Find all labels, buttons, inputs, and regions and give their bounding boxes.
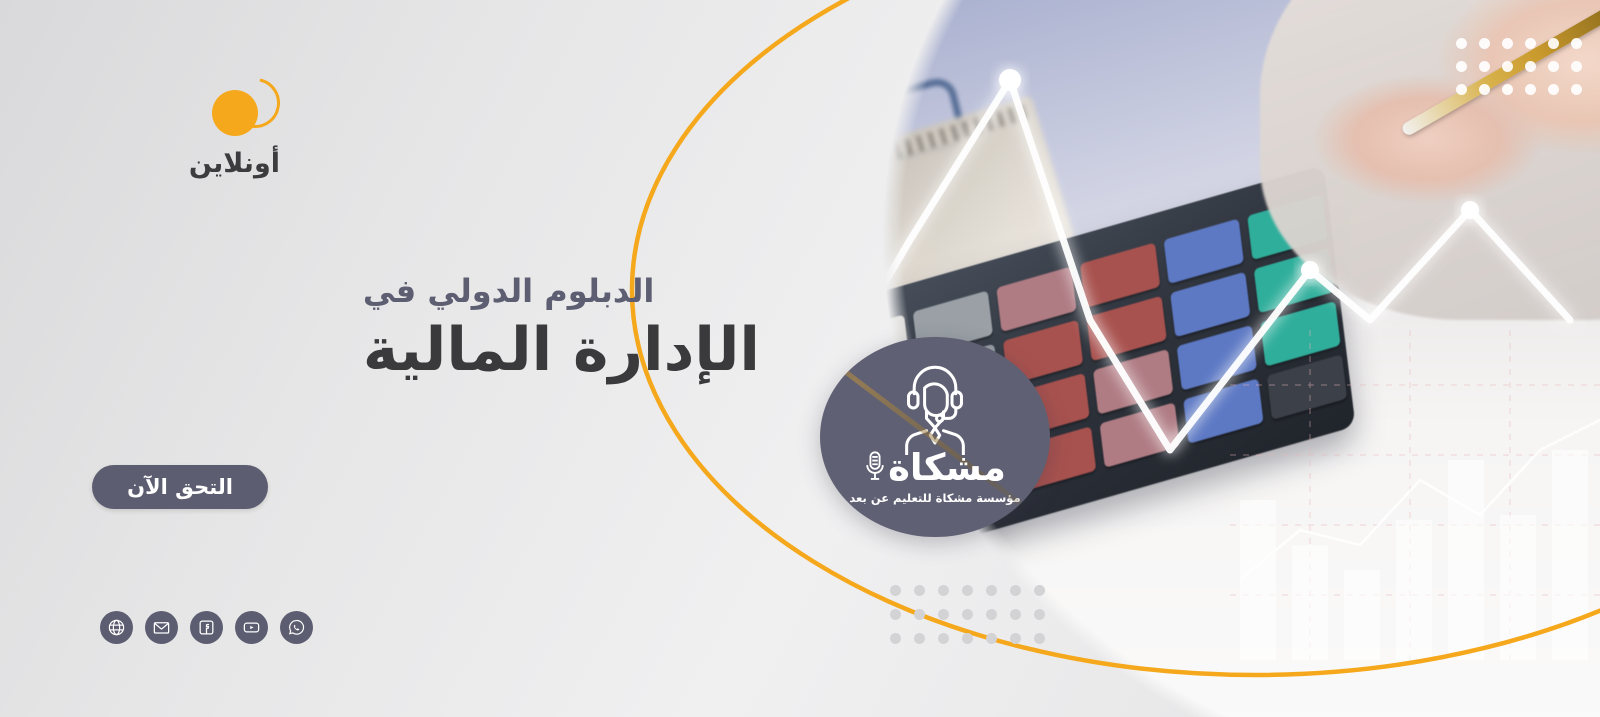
bar-chart-overlay (1230, 330, 1600, 660)
brand-lockup: أونلاين (100, 78, 280, 179)
social-links (100, 611, 313, 644)
mishkah-logo-badge: مشكاة مؤسسة مشكاة للتعليم عن بعد (820, 337, 1050, 537)
headline-kicker: الدبلوم الدولي في (363, 272, 760, 310)
youtube-icon[interactable] (235, 611, 268, 644)
whatsapp-icon[interactable] (280, 611, 313, 644)
dot-grid-top-right (1456, 38, 1582, 95)
badge-tagline: مؤسسة مشكاة للتعليم عن بعد (849, 491, 1020, 505)
page-title: الإدارة المالية (363, 316, 760, 385)
headset-agent-icon (883, 359, 987, 455)
facebook-icon[interactable] (190, 611, 223, 644)
microphone-icon (864, 450, 886, 484)
badge-logo-lockup: مشكاة (864, 449, 1006, 486)
email-icon[interactable] (145, 611, 178, 644)
badge-logo-text: مشكاة (888, 449, 1006, 486)
website-icon[interactable] (100, 611, 133, 644)
promo-banner: أونلاين الدبلوم الدولي في الإدارة المالي… (0, 0, 1600, 717)
enroll-now-button[interactable]: التحق الآن (92, 465, 268, 509)
dot-grid-bottom (890, 585, 1045, 644)
headline-block: الدبلوم الدولي في الإدارة المالية (363, 272, 760, 385)
sun-circle-icon (212, 78, 276, 142)
brand-word: أونلاين (100, 148, 280, 179)
